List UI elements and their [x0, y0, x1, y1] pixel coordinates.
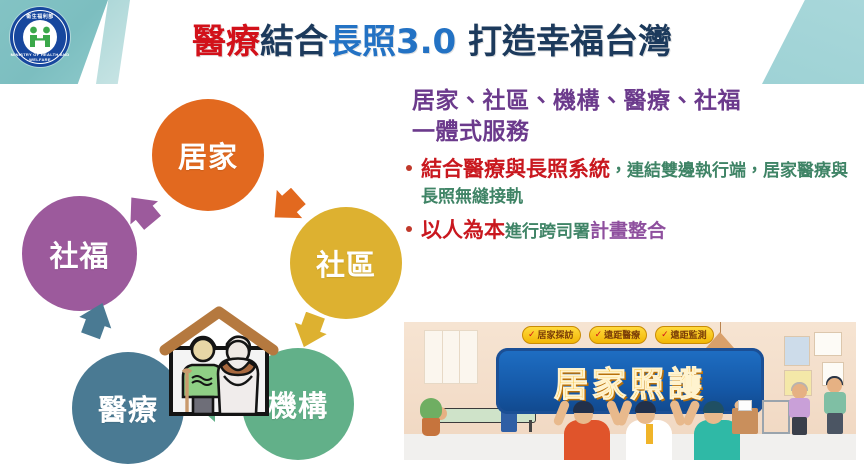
bullet-2-part-1: 以人為本 [421, 218, 505, 242]
feature-tag-row: ✓ 居家探訪 ✓ 遠距醫療 ✓ 遠距監測 [522, 326, 714, 344]
bullet-1-part-2: ，連結雙邊執行端， [610, 161, 763, 181]
arrow-community-to-institution-icon [288, 312, 330, 354]
window-icon [424, 330, 478, 384]
circle-medical-label: 醫療 [98, 387, 158, 429]
content-heading-line1: 居家、社區、機構、醫療、社福 [412, 86, 856, 117]
circle-home-label: 居家 [178, 134, 238, 176]
body [789, 398, 810, 418]
elderly-with-walker-icon [788, 384, 812, 434]
circle-home[interactable]: 居家 [152, 99, 264, 211]
tag-remote-monitoring[interactable]: ✓ 遠距監測 [655, 326, 714, 344]
circle-welfare-label: 社福 [49, 233, 109, 275]
potted-plant-leaves [420, 398, 442, 420]
tag-telemedicine[interactable]: ✓ 遠距醫療 [589, 326, 648, 344]
bullet-2-part-3: 計畫整合 [590, 220, 666, 242]
body [564, 420, 610, 460]
care-cycle-diagram: 居家 社區 機構 醫療 社福 [0, 84, 410, 468]
hair [703, 401, 724, 413]
title-seg-medical: 醫療 [192, 22, 260, 62]
wall-frame-2 [814, 332, 842, 356]
potted-plant-icon [422, 418, 440, 436]
body [824, 392, 846, 414]
side-table-icon [732, 408, 758, 434]
tie [646, 424, 653, 444]
content-heading: 居家、社區、機構、醫療、社福 一體式服務 [412, 86, 856, 147]
legs [792, 417, 807, 435]
tag-home-visit-label: 居家探訪 [538, 328, 574, 341]
check-icon: ✓ [595, 330, 603, 340]
tag-remote-monitoring-label: 遠距監測 [671, 328, 707, 341]
bullet-list: 結合醫療與長照系統，連結雙邊執行端，居家醫療與長照無縫接軌 以人為本進行跨司署計… [404, 155, 856, 244]
slide-root: 衛生福利部 MINISTRY OF HEALTH AND WELFARE 醫療結… [0, 0, 864, 468]
table-item [738, 400, 752, 411]
tag-home-visit[interactable]: ✓ 居家探訪 [522, 326, 581, 344]
cheering-person-orange [556, 398, 620, 460]
check-icon: ✓ [661, 330, 669, 340]
wall-frame-1 [784, 336, 810, 366]
hair [635, 401, 656, 413]
page-title: 醫療結合長照3.0 打造幸福台灣 [0, 14, 864, 63]
content-heading-line2: 一體式服務 [412, 117, 856, 148]
arrow-medical-to-welfare-icon [76, 296, 118, 340]
home-care-promo-illustration: ✓ 居家探訪 ✓ 遠距醫療 ✓ 遠距監測 居家照護 [404, 322, 856, 460]
legs [827, 413, 843, 434]
hair [573, 401, 594, 413]
caregiver-figure-icon [822, 378, 848, 434]
walker-frame-icon [762, 400, 790, 434]
doctor-in-white-coat [618, 396, 684, 460]
bullet-people-centered: 以人為本進行跨司署計畫整合 [404, 216, 856, 244]
content-panel: 居家、社區、機構、醫療、社福 一體式服務 結合醫療與長照系統，連結雙邊執行端，居… [404, 86, 856, 316]
tag-telemedicine-label: 遠距醫療 [604, 328, 640, 341]
head [827, 378, 842, 393]
title-seg-happy-taiwan: 打造幸福台灣 [456, 22, 672, 62]
arrow-welfare-to-home-icon [118, 188, 164, 230]
arrow-home-to-community-icon [262, 188, 308, 228]
bullet-integrate-systems: 結合醫療與長照系統，連結雙邊執行端，居家醫療與長照無縫接軌 [404, 155, 856, 209]
bed-leg [529, 420, 532, 432]
title-seg-ltc30: 長照3.0 [328, 22, 456, 62]
title-seg-combine: 結合 [260, 22, 328, 62]
head [792, 384, 807, 399]
circle-community-label: 社區 [316, 242, 376, 284]
bullet-1-part-1: 結合醫療與長照系統 [421, 157, 610, 181]
bullet-2-part-2: 進行跨司署 [505, 222, 590, 242]
house-with-elderly-couple-icon [155, 302, 283, 426]
check-icon: ✓ [528, 330, 536, 340]
